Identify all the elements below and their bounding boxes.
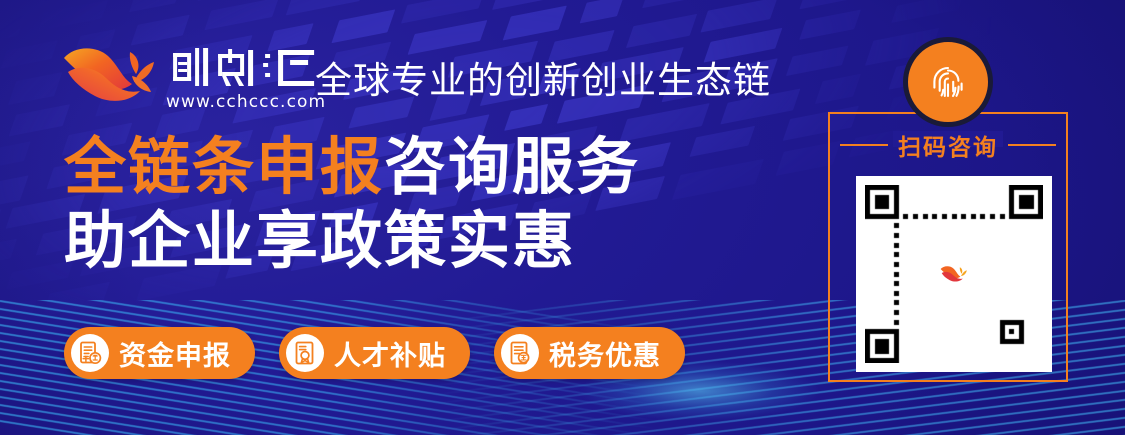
headline-line-2: 助企业享政策实惠	[64, 204, 640, 278]
scan-rule-right	[1008, 144, 1056, 146]
talent-certificate-icon	[286, 334, 324, 372]
brand-tagline: 全球专业的创新创业生态链	[315, 59, 771, 103]
pill-tax[interactable]: 税务优惠	[494, 327, 685, 379]
scan-label: 扫码咨询	[898, 128, 998, 162]
service-pill-list: 资金申报 人才补贴 税务优惠	[64, 327, 685, 379]
site-url[interactable]: www.cchccc.com	[166, 92, 326, 112]
headline-plain-text: 咨询服务	[384, 130, 640, 203]
headline: 全链条申报咨询服务 助企业享政策实惠	[64, 130, 640, 278]
qr-center-logo-icon	[935, 255, 973, 293]
pill-funding[interactable]: 资金申报	[64, 327, 255, 379]
pill-funding-label: 资金申报	[119, 334, 231, 373]
pill-talent-label: 人才补贴	[334, 334, 446, 373]
fingerprint-icon[interactable]	[903, 37, 993, 127]
brand-logo[interactable]: www.cchccc.com	[62, 42, 326, 112]
headline-accent-text: 全链条申报	[64, 130, 384, 203]
scan-label-row: 扫码咨询	[840, 128, 1056, 162]
pill-tax-label: 税务优惠	[549, 334, 661, 373]
funding-document-icon	[71, 334, 109, 372]
qr-code[interactable]	[856, 176, 1052, 372]
phoenix-bird-logo-icon	[62, 42, 158, 108]
promo-banner: www.cchccc.com 全球专业的创新创业生态链 全链条申报咨询服务 助企…	[0, 0, 1125, 435]
tax-document-icon	[501, 334, 539, 372]
headline-line-1: 全链条申报咨询服务	[64, 130, 640, 204]
wordmark-icon	[164, 44, 326, 90]
pill-talent[interactable]: 人才补贴	[279, 327, 470, 379]
scan-rule-left	[840, 144, 888, 146]
